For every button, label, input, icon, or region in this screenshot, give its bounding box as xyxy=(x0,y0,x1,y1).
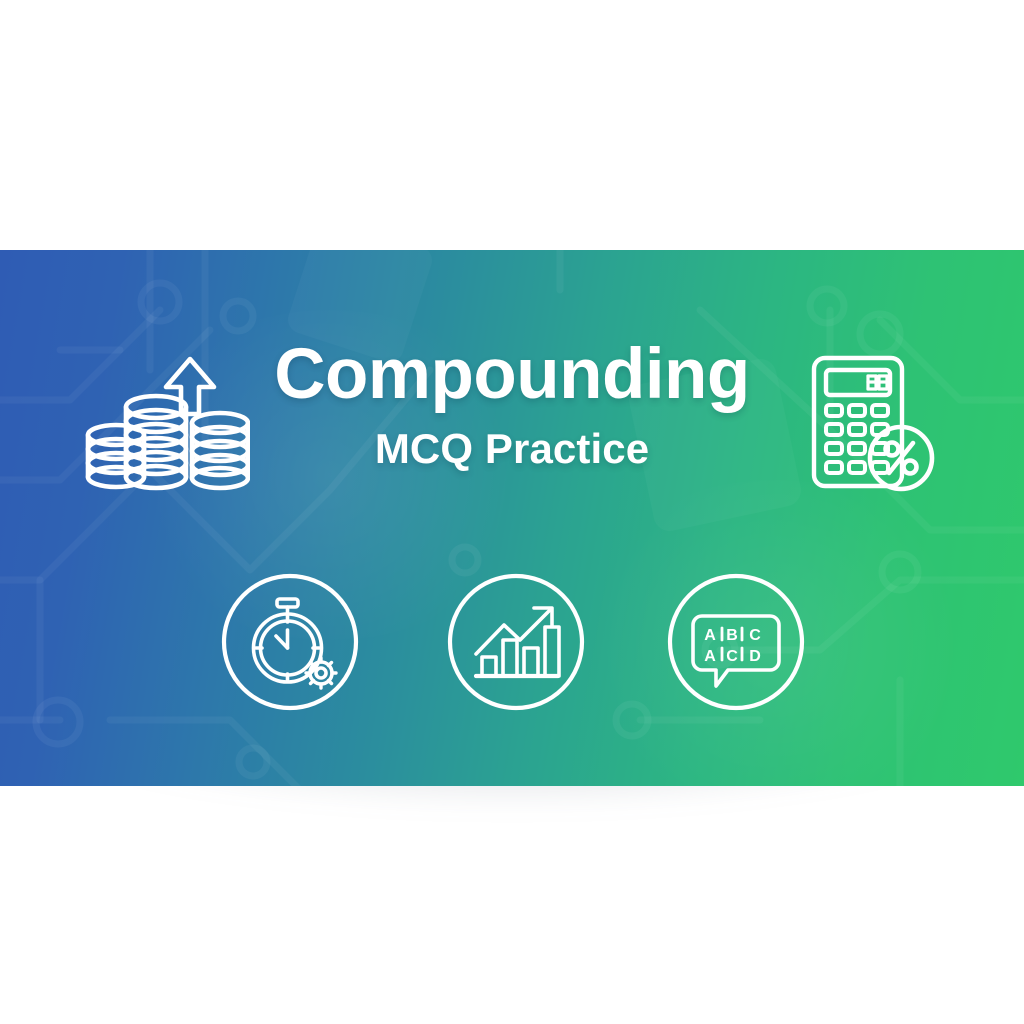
feature-circle-outline xyxy=(224,576,356,708)
stopwatch-gear-icon xyxy=(254,599,337,688)
feature-item-growth-chart[interactable] xyxy=(446,572,586,712)
mcq-choice-r2c3: D xyxy=(749,648,761,665)
mcq-choice-r1c1: A xyxy=(704,627,716,644)
mcq-choice-r2c2: C xyxy=(726,648,738,665)
growth-bar-chart-icon xyxy=(476,608,559,676)
gradient-banner: Compounding MCQ Practice xyxy=(0,250,1024,786)
feature-item-mcq-options[interactable]: A B C A C D xyxy=(666,572,806,712)
feature-icon-row: A B C A C D xyxy=(0,572,1024,722)
mcq-choice-r1c3: C xyxy=(749,627,761,644)
page-subtitle: MCQ Practice xyxy=(0,425,1024,473)
feature-item-stopwatch[interactable] xyxy=(220,572,360,712)
mcq-choice-r1c2: B xyxy=(726,627,738,644)
mcq-choice-letters: A B C A C D xyxy=(704,627,761,665)
page-title: Compounding xyxy=(0,338,1024,411)
mcq-choice-r2c1: A xyxy=(704,648,716,665)
headline-block: Compounding MCQ Practice xyxy=(0,338,1024,473)
banner-container: Compounding MCQ Practice xyxy=(0,250,1024,786)
